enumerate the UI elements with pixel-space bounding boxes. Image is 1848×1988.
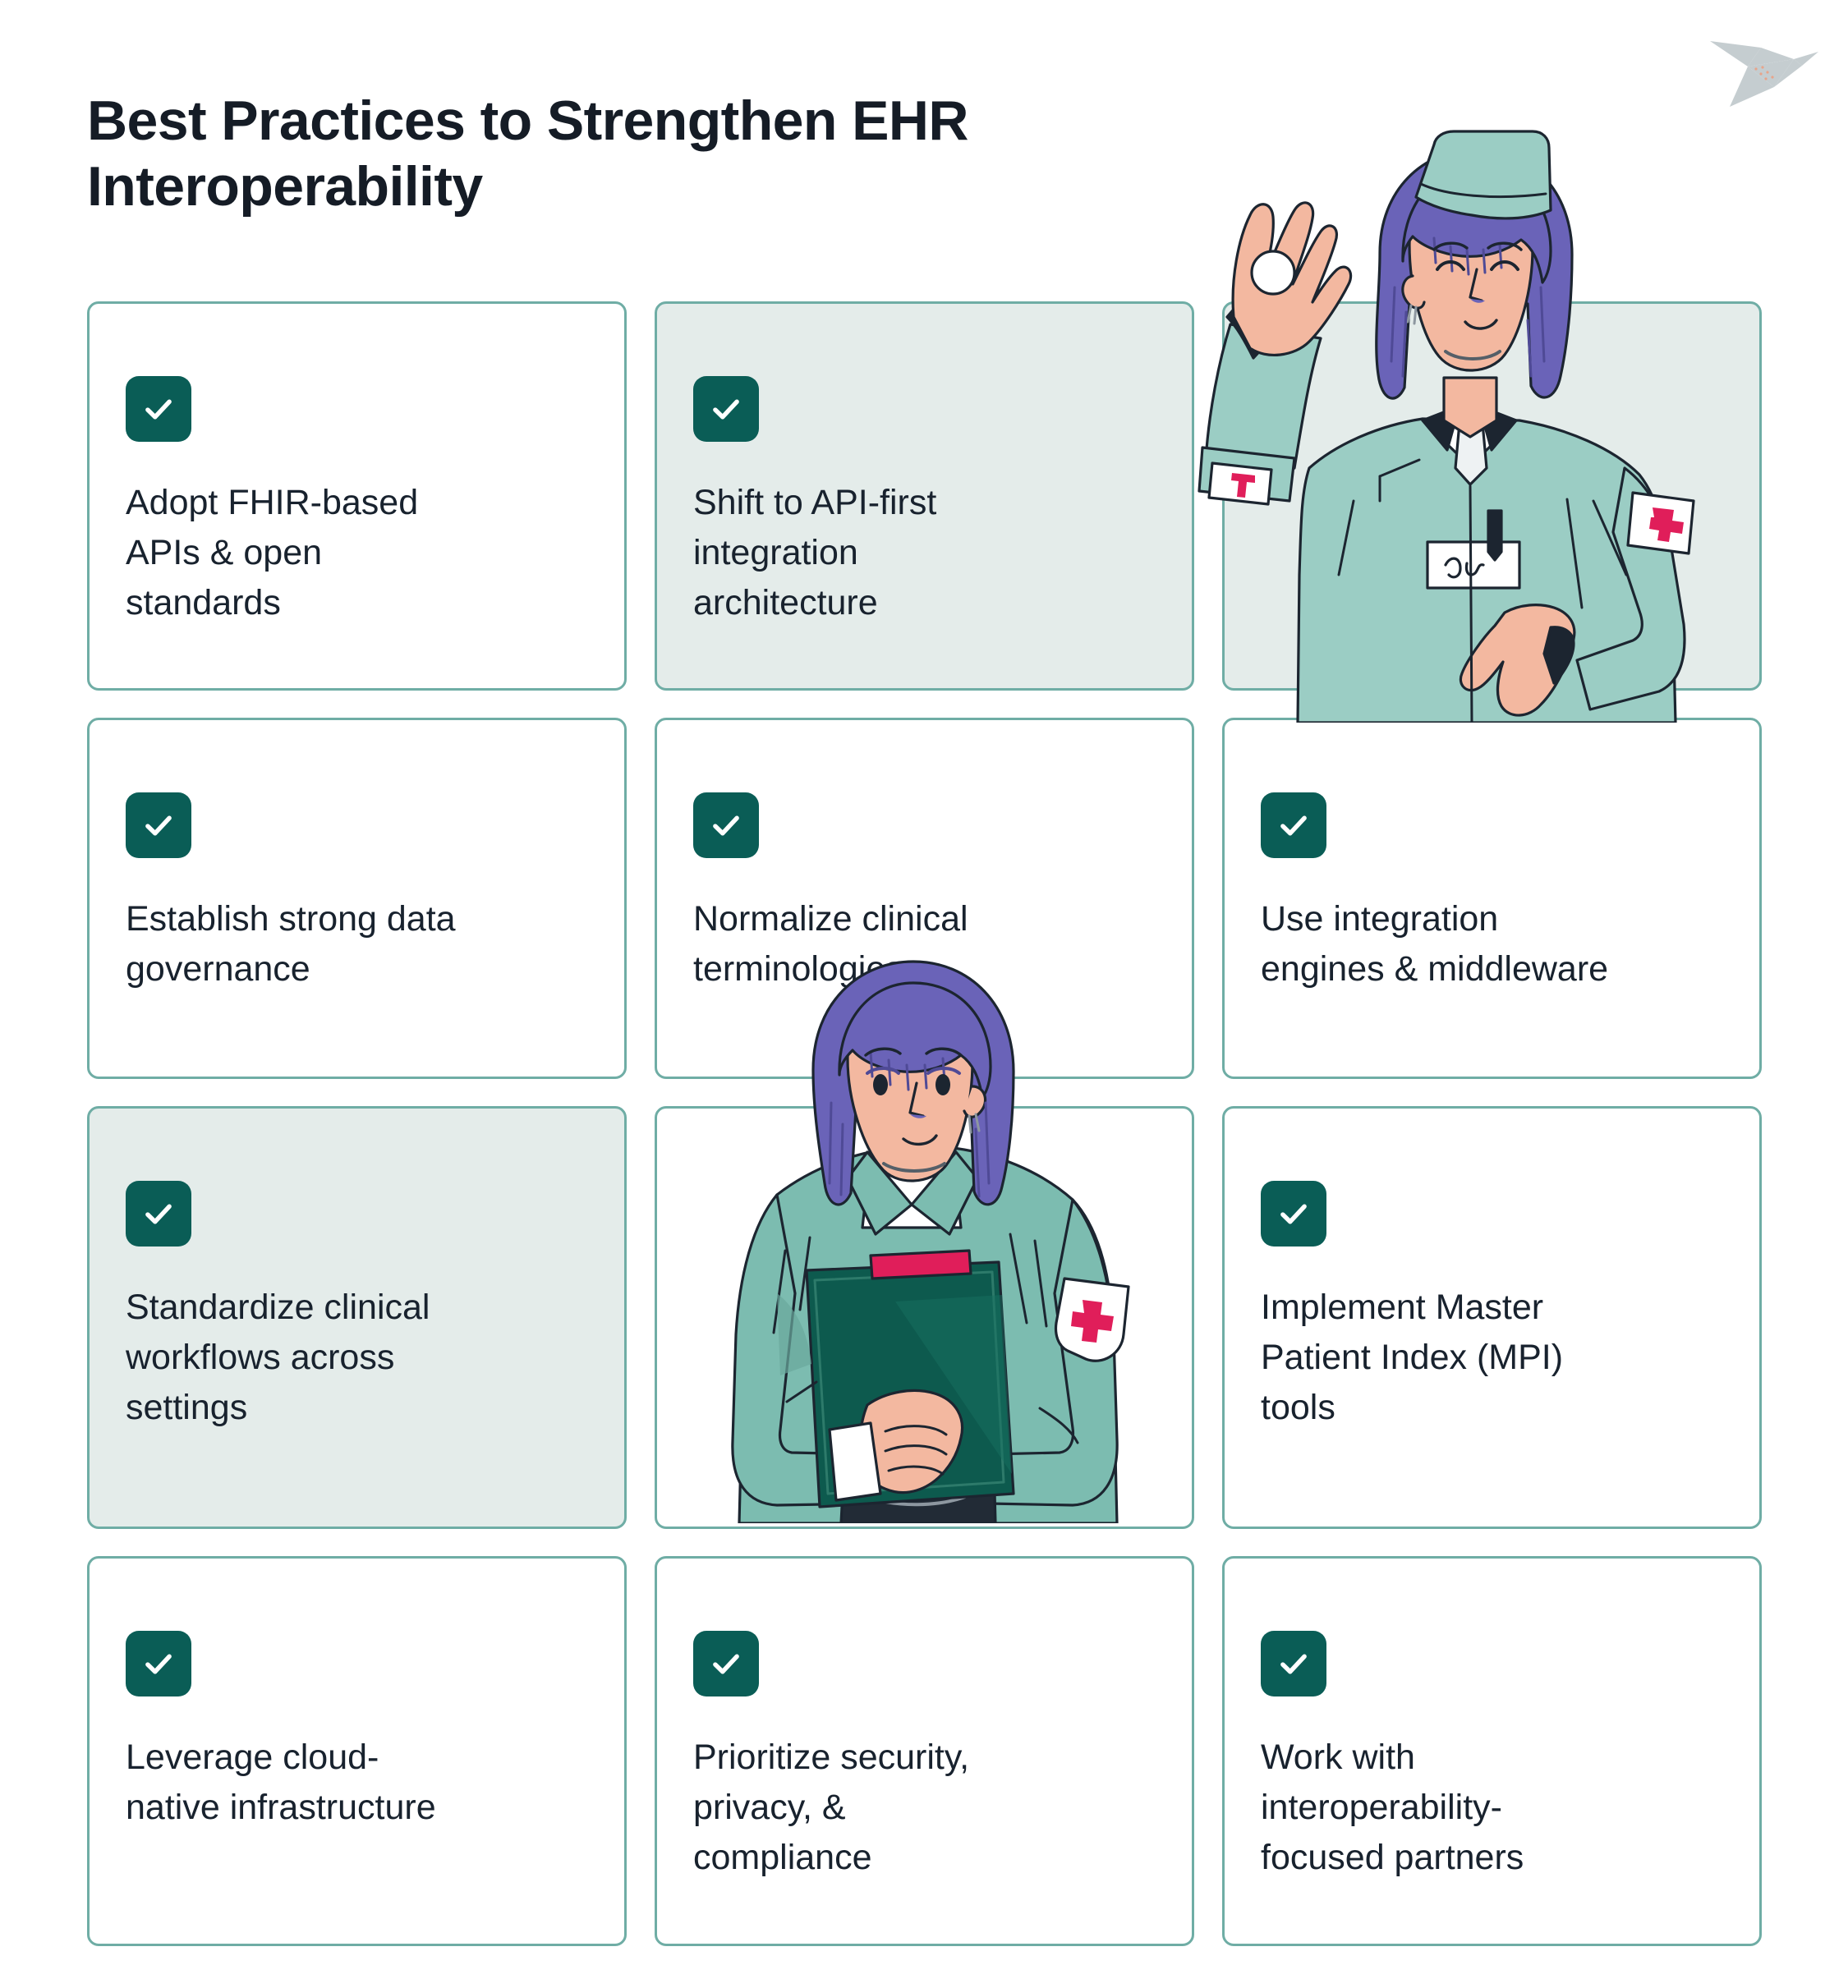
practice-card-5[interactable]: Normalize clinical terminologies [655, 718, 1194, 1079]
check-icon [1261, 1181, 1326, 1247]
origami-bird-logo [1669, 15, 1825, 109]
check-icon [126, 376, 191, 442]
practice-card-label: Work with interoperability- focused part… [1261, 1733, 1647, 1883]
practice-card-11[interactable]: Prioritize security, privacy, & complian… [655, 1556, 1194, 1946]
practice-card-8-empty[interactable] [655, 1106, 1194, 1529]
practice-card-4[interactable]: Establish strong data governance [87, 718, 627, 1079]
practice-card-label: Establish strong data governance [126, 894, 586, 994]
practice-card-label: Shift to API-first integration architect… [693, 478, 1022, 628]
page-title: Best Practices to Strengthen EHR Interop… [87, 89, 1319, 219]
practice-card-label: Adopt FHIR-based APIs & open standards [126, 478, 454, 628]
practice-card-label: Standardize clinical workflows across se… [126, 1283, 512, 1433]
practice-card-12[interactable]: Work with interoperability- focused part… [1222, 1556, 1762, 1946]
practice-card-label: Implement Master Patient Index (MPI) too… [1261, 1283, 1647, 1433]
best-practices-grid: Adopt FHIR-based APIs & open standards S… [87, 301, 1762, 1946]
practice-card-label: Prioritize security, privacy, & complian… [693, 1733, 1079, 1883]
practice-card-label: Normalize clinical terminologies [693, 894, 1079, 994]
check-icon [1261, 792, 1326, 858]
infographic-page: Best Practices to Strengthen EHR Interop… [0, 0, 1848, 1988]
practice-card-1[interactable]: Adopt FHIR-based APIs & open standards [87, 301, 627, 691]
check-icon [126, 792, 191, 858]
practice-card-3-empty[interactable] [1222, 301, 1762, 691]
practice-card-10[interactable]: Leverage cloud- native infrastructure [87, 1556, 627, 1946]
check-icon [693, 1631, 759, 1696]
check-icon [693, 792, 759, 858]
practice-card-2[interactable]: Shift to API-first integration architect… [655, 301, 1194, 691]
check-icon [126, 1631, 191, 1696]
practice-card-7[interactable]: Standardize clinical workflows across se… [87, 1106, 627, 1529]
practice-card-label: Leverage cloud- native infrastructure [126, 1733, 586, 1833]
practice-card-9[interactable]: Implement Master Patient Index (MPI) too… [1222, 1106, 1762, 1529]
check-icon [126, 1181, 191, 1247]
check-icon [1261, 1631, 1326, 1696]
check-icon [693, 376, 759, 442]
practice-card-6[interactable]: Use integration engines & middleware [1222, 718, 1762, 1079]
practice-card-label: Use integration engines & middleware [1261, 894, 1721, 994]
